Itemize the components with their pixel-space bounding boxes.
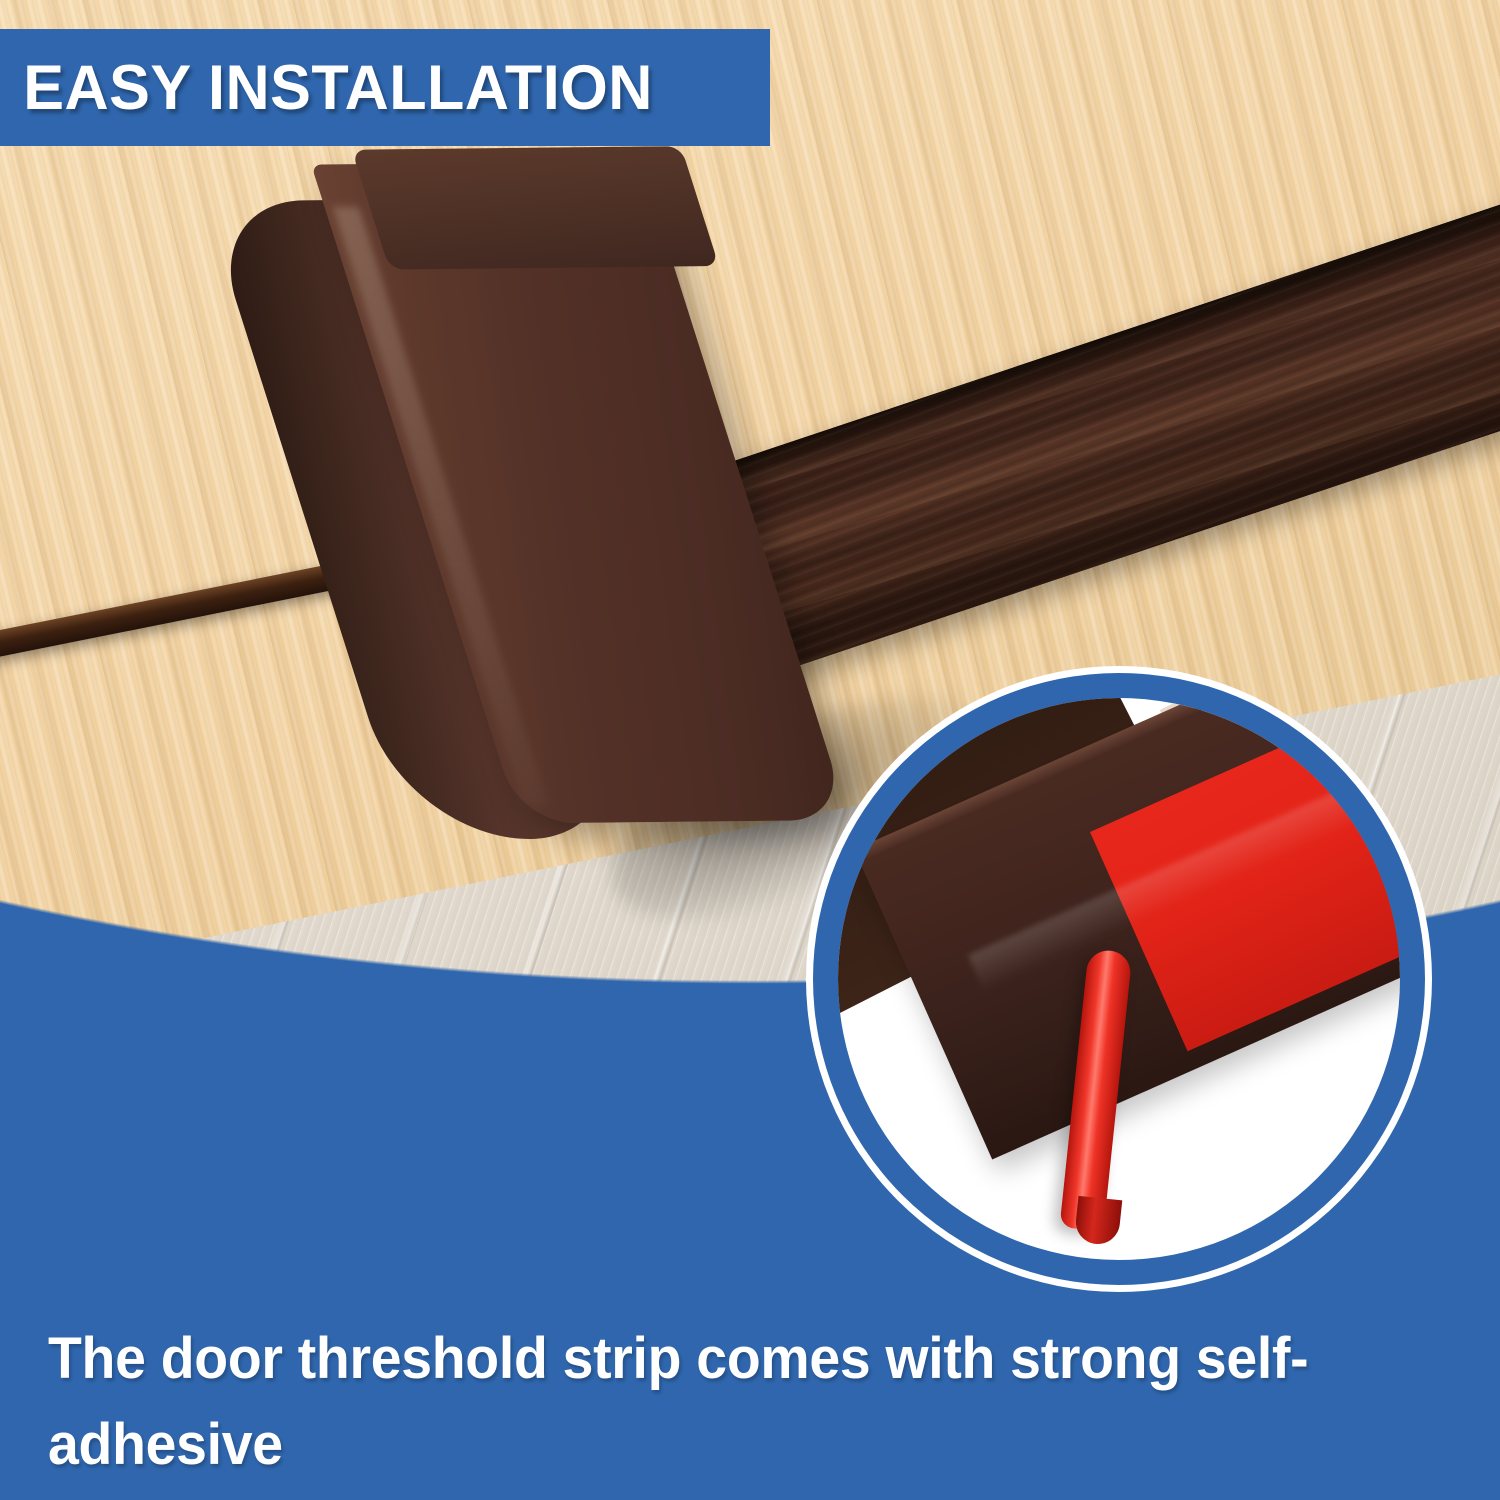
inset-photo-content — [838, 698, 1400, 1260]
inset-red-liner-peel-tip — [1074, 1196, 1123, 1246]
banner-title: EASY INSTALLATION — [0, 52, 653, 124]
caption-line-2: backing, just need to peel and stick. — [48, 1488, 1404, 1500]
inset-photo-circle — [806, 666, 1432, 1292]
header-banner: EASY INSTALLATION — [0, 29, 770, 146]
strip-top-edge — [352, 146, 719, 269]
inset-blue-ring — [813, 673, 1425, 1285]
feature-caption: The door threshold strip comes with stro… — [48, 1316, 1404, 1500]
product-feature-poster: EASY INSTALLATION The door threshold str… — [0, 0, 1500, 1500]
caption-line-1: The door threshold strip comes with stro… — [48, 1316, 1404, 1488]
